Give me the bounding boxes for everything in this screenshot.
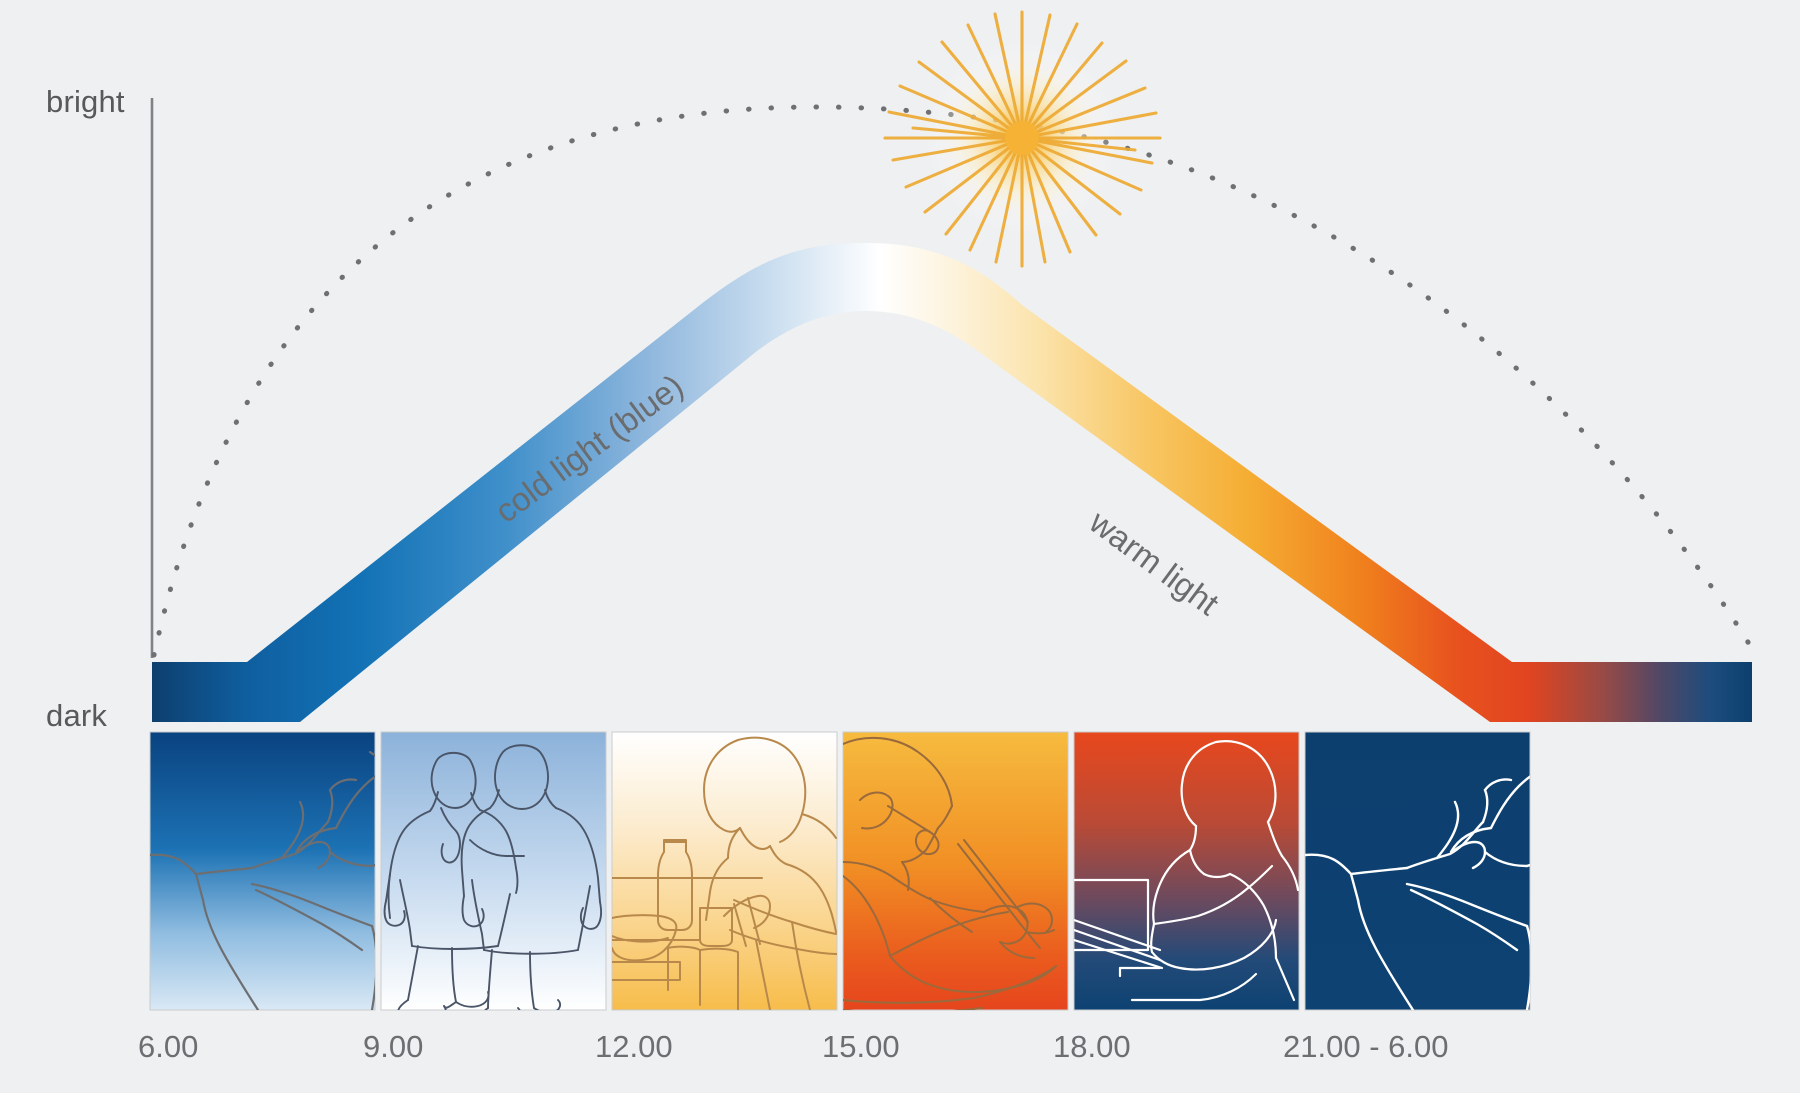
time-tick-0: 6.00 — [138, 1029, 198, 1065]
time-tick-1: 9.00 — [363, 1029, 423, 1065]
diagram-canvas — [0, 0, 1800, 1093]
time-tick-2: 12.00 — [595, 1029, 673, 1065]
light-colour-ribbon — [152, 243, 1752, 722]
panel-sleeping-morning — [150, 732, 404, 1010]
panel-person-writing — [843, 732, 1068, 1013]
time-tick-3: 15.00 — [822, 1029, 900, 1065]
infographic-stage: bright dark cold light (blue) warm light… — [0, 0, 1800, 1093]
time-tick-5: 21.00 - 6.00 — [1283, 1029, 1448, 1065]
panel-sleeping-night — [1305, 732, 1557, 1010]
time-tick-4: 18.00 — [1053, 1029, 1131, 1065]
panel-couple-walking — [381, 732, 606, 1026]
panel-person-at-laptop — [1074, 732, 1299, 1010]
sun-icon — [885, 12, 1160, 266]
panel-person-dining — [612, 732, 837, 1010]
axis-label-dark: dark — [46, 698, 107, 734]
axis-label-bright: bright — [46, 84, 125, 120]
